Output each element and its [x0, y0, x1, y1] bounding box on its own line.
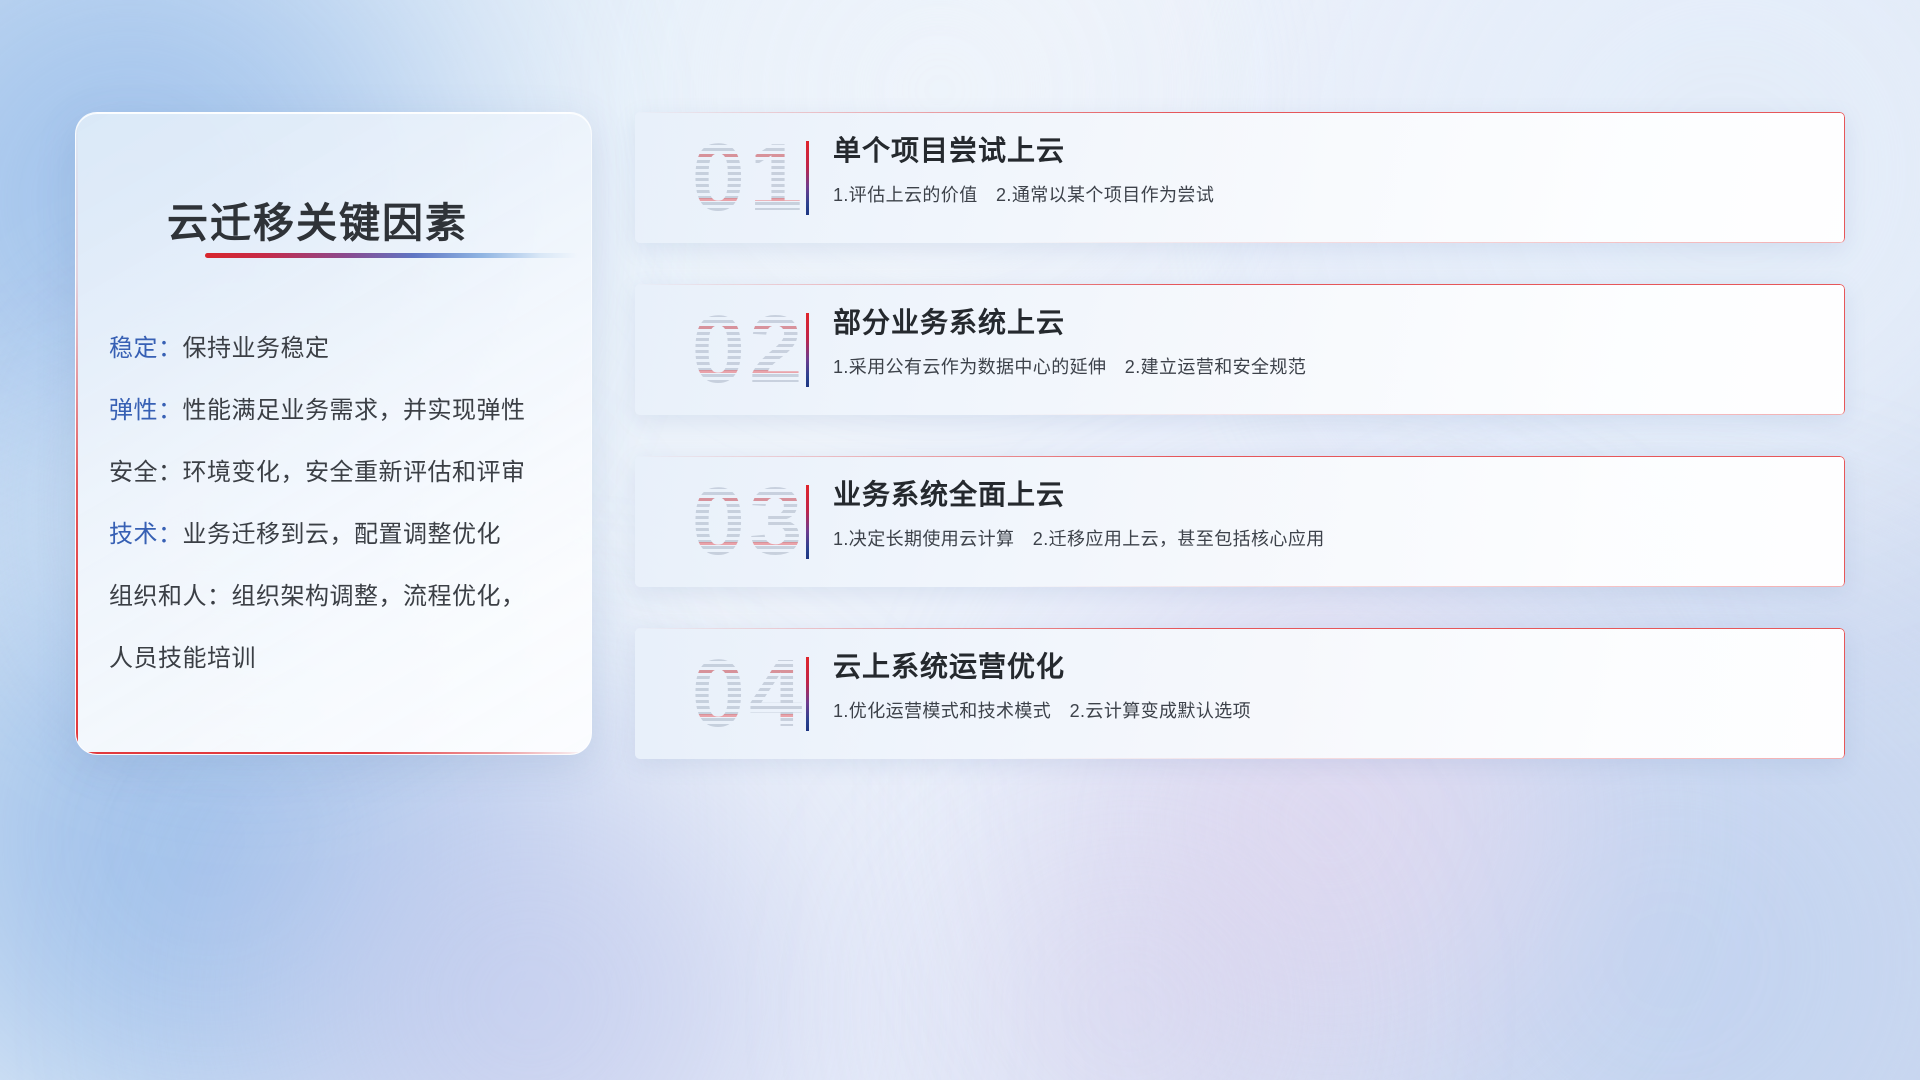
- panel-title: 云迁移关键因素: [167, 189, 468, 249]
- key-factors-list: 稳定：保持业务稳定弹性：性能满足业务需求，并实现弹性安全：环境变化，安全重新评估…: [109, 318, 573, 690]
- key-factor-label: 组织和人：: [109, 583, 232, 610]
- card-accent-bar: [806, 485, 809, 559]
- stage-card[interactable]: 0404云上系统运营优化1.优化运营模式和技术模式 2.云计算变成默认选项: [635, 628, 1845, 759]
- card-text-block: 云上系统运营优化1.优化运营模式和技术模式 2.云计算变成默认选项: [833, 646, 1821, 724]
- card-text-block: 部分业务系统上云1.采用公有云作为数据中心的延伸 2.建立运营和安全规范: [833, 302, 1821, 380]
- card-detail: 1.决定长期使用云计算 2.迁移应用上云，甚至包括核心应用: [833, 526, 1821, 552]
- stage-number-red-overlay: 03: [659, 468, 839, 576]
- card-detail: 1.采用公有云作为数据中心的延伸 2.建立运营和安全规范: [833, 354, 1821, 380]
- key-factor-line: 稳定：保持业务稳定: [109, 318, 573, 380]
- key-factor-text: 性能满足业务需求，并实现弹性: [183, 397, 526, 424]
- card-detail: 1.优化运营模式和技术模式 2.云计算变成默认选项: [833, 698, 1821, 724]
- card-text-block: 单个项目尝试上云1.评估上云的价值 2.通常以某个项目作为尝试: [833, 130, 1821, 208]
- stage-card[interactable]: 0303业务系统全面上云1.决定长期使用云计算 2.迁移应用上云，甚至包括核心应…: [635, 456, 1845, 587]
- key-factor-line: 安全：环境变化，安全重新评估和评审: [109, 442, 573, 504]
- key-factors-panel: 云迁移关键因素 稳定：保持业务稳定弹性：性能满足业务需求，并实现弹性安全：环境变…: [75, 112, 592, 755]
- card-accent-bar: [806, 313, 809, 387]
- key-factor-line: 人员技能培训: [109, 628, 573, 690]
- card-title: 业务系统全面上云: [833, 474, 1821, 516]
- card-title: 部分业务系统上云: [833, 302, 1821, 344]
- key-factor-line: 组织和人：组织架构调整，流程优化，: [109, 566, 573, 628]
- card-title: 云上系统运营优化: [833, 646, 1821, 688]
- card-accent-bar: [806, 141, 809, 215]
- stage-card[interactable]: 0101单个项目尝试上云1.评估上云的价值 2.通常以某个项目作为尝试: [635, 112, 1845, 243]
- stage-number-red-overlay: 02: [659, 296, 839, 404]
- card-accent-bar: [806, 657, 809, 731]
- card-title: 单个项目尝试上云: [833, 130, 1821, 172]
- key-factor-text: 业务迁移到云，配置调整优化: [183, 521, 502, 548]
- key-factor-label: 弹性：: [109, 397, 183, 424]
- stage-cards-list: 0101单个项目尝试上云1.评估上云的价值 2.通常以某个项目作为尝试0202部…: [635, 112, 1845, 800]
- key-factor-label: 稳定：: [109, 335, 183, 362]
- stage-card[interactable]: 0202部分业务系统上云1.采用公有云作为数据中心的延伸 2.建立运营和安全规范: [635, 284, 1845, 415]
- key-factor-text: 组织架构调整，流程优化，: [232, 583, 526, 610]
- card-detail: 1.评估上云的价值 2.通常以某个项目作为尝试: [833, 182, 1821, 208]
- stage-number-red-overlay: 04: [659, 640, 839, 748]
- key-factor-label: 安全：: [109, 459, 183, 486]
- key-factor-text: 人员技能培训: [109, 645, 256, 672]
- key-factor-line: 弹性：性能满足业务需求，并实现弹性: [109, 380, 573, 442]
- key-factor-text: 保持业务稳定: [183, 335, 330, 362]
- key-factor-line: 技术：业务迁移到云，配置调整优化: [109, 504, 573, 566]
- card-text-block: 业务系统全面上云1.决定长期使用云计算 2.迁移应用上云，甚至包括核心应用: [833, 474, 1821, 552]
- stage-number-red-overlay: 01: [659, 124, 839, 232]
- title-underline-accent: [205, 253, 578, 258]
- key-factor-label: 技术：: [109, 521, 183, 548]
- key-factor-text: 环境变化，安全重新评估和评审: [183, 459, 526, 486]
